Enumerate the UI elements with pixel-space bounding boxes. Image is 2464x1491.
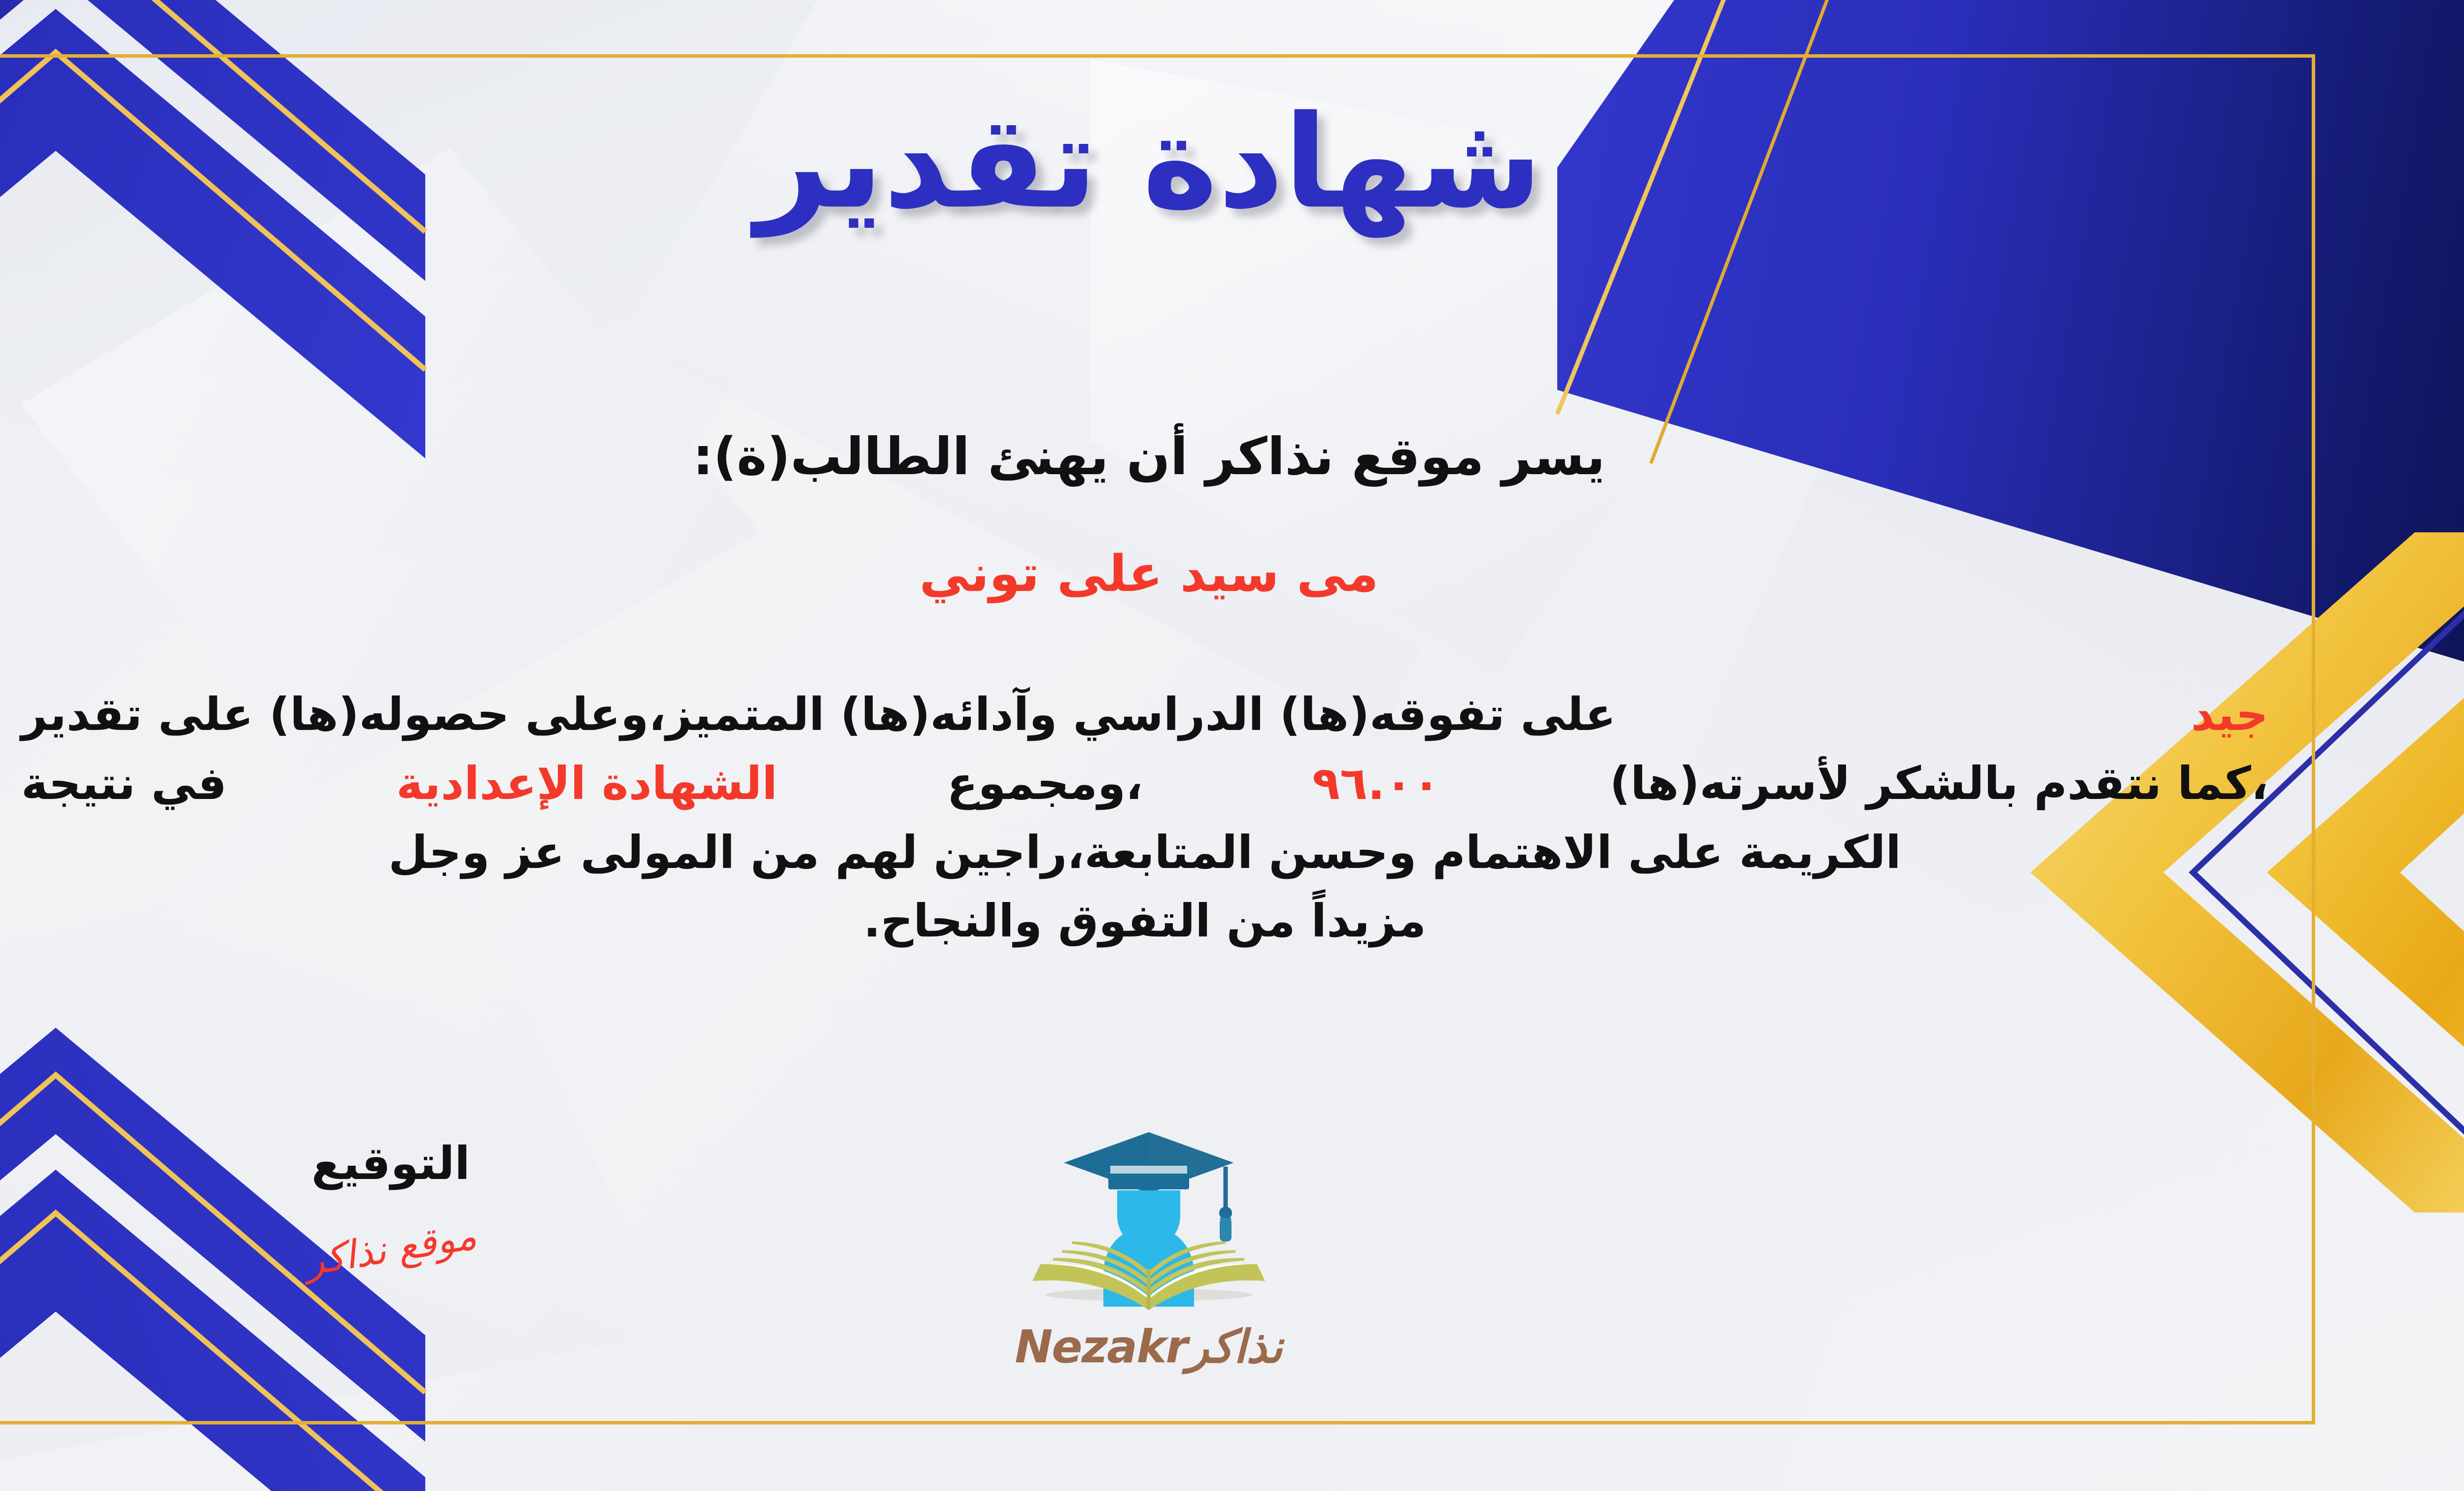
- greeting-text: يسر موقع نذاكر أن يهنئ الطالب(ة):: [0, 426, 2464, 486]
- logo-wordmark-arabic: نذاكر: [1187, 1320, 1283, 1373]
- certificate-canvas: شهادة تقدير يسر موقع نذاكر أن يهنئ الطال…: [0, 0, 2464, 1491]
- certificate-content: شهادة تقدير يسر موقع نذاكر أن يهنئ الطال…: [0, 0, 2464, 1491]
- body-line-3: الكريمة على الاهتمام وحسن المتابعة،راجين…: [21, 818, 2268, 887]
- grade-value: جيد: [2191, 680, 2268, 749]
- body-line-1: جيد على تفوقه(ها) الدراسي وآدائه(ها) الم…: [21, 680, 2268, 749]
- body-line-2: ،كما نتقدم بالشكر لأسرته(ها) ٩٦.٠٠ ،ومجم…: [21, 749, 2268, 818]
- signature-mark: موقع نذاكر: [302, 1214, 479, 1284]
- body-line-2-suffix: ،كما نتقدم بالشكر لأسرته(ها): [1609, 749, 2268, 818]
- nezakr-logo: نذاكرNezakr: [952, 1121, 1346, 1397]
- certificate-body: جيد على تفوقه(ها) الدراسي وآدائه(ها) الم…: [21, 680, 2268, 956]
- exam-name-value: الشهادة الإعدادية: [396, 749, 778, 818]
- logo-wordmark: نذاكرNezakr: [952, 1320, 1346, 1373]
- body-line-4: مزيداً من التفوق والنجاح.: [21, 887, 2268, 956]
- certificate-title: شهادة تقدير: [0, 76, 2464, 249]
- total-score-value: ٩٦.٠٠: [1312, 749, 1440, 818]
- logo-wordmark-latin: Nezakr: [1015, 1320, 1187, 1373]
- signature-label: التوقيع: [218, 1139, 563, 1188]
- body-line-2-mid: ،ومجموع: [947, 749, 1143, 818]
- body-line-1-text: على تفوقه(ها) الدراسي وآدائه(ها) المتميز…: [21, 680, 1616, 749]
- body-line-2-prefix: في نتيجة: [21, 749, 227, 818]
- student-name: مى سيد على توني: [0, 545, 2464, 603]
- signature-block: التوقيع موقع نذاكر: [218, 1139, 563, 1271]
- graduate-book-icon: [1011, 1121, 1287, 1318]
